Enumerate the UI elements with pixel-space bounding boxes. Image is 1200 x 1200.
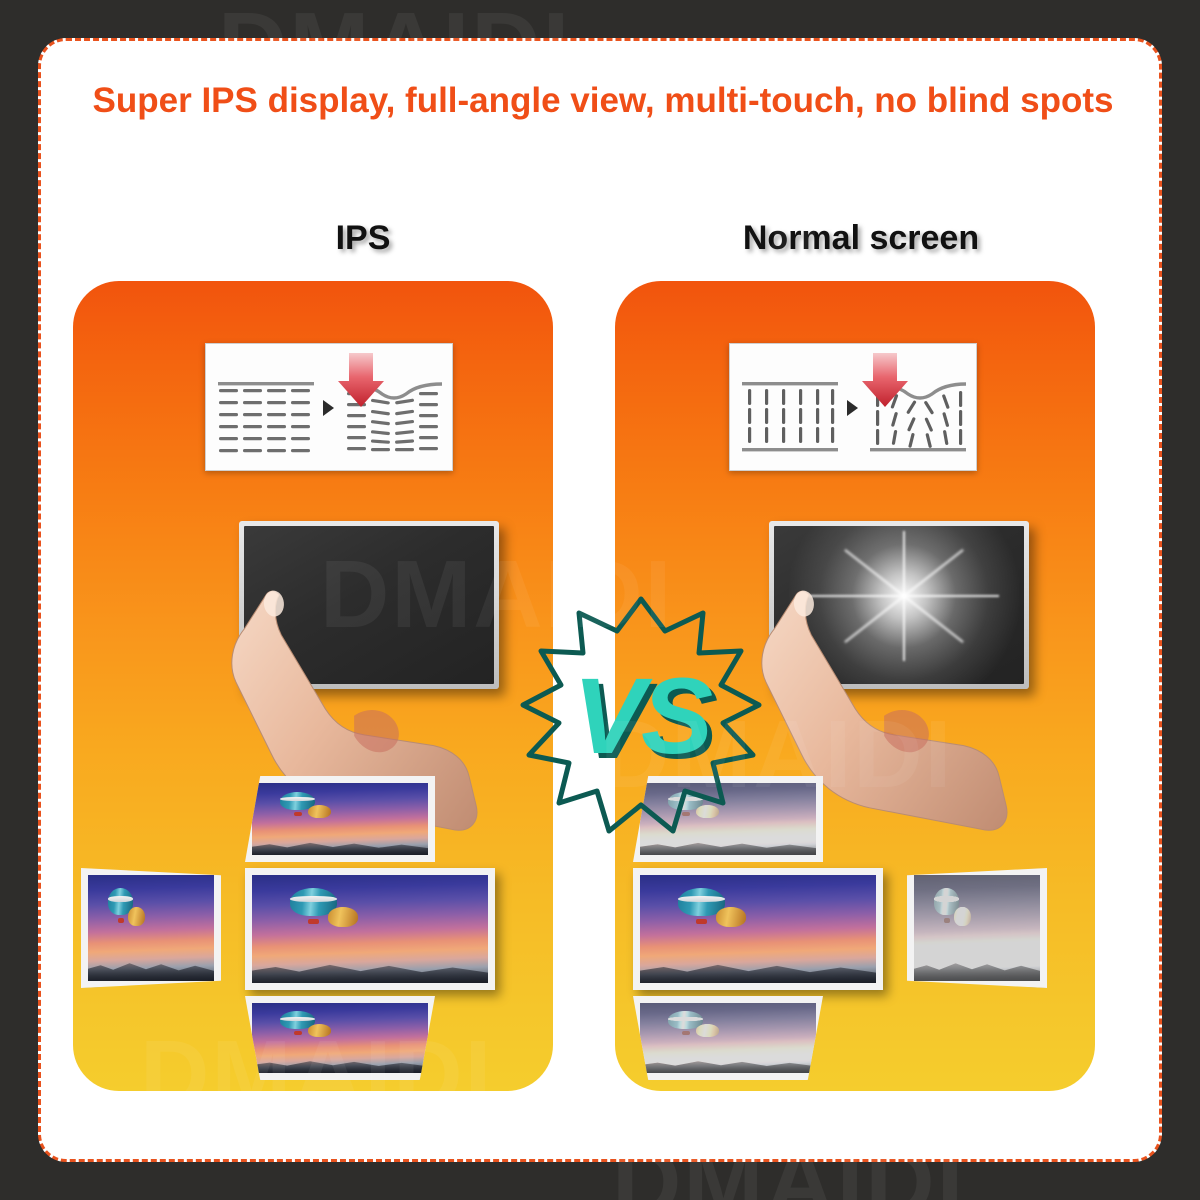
crystal-state-before-normal xyxy=(738,344,842,470)
view-bottom xyxy=(633,996,823,1080)
crystal-diagram-ips xyxy=(205,343,453,471)
comparison-panel-ips xyxy=(73,281,553,1091)
crystal-diagram-normal xyxy=(729,343,977,471)
view-bottom xyxy=(245,996,435,1080)
panel-caption-normal-screen: Normal screen xyxy=(681,219,1041,258)
view-top xyxy=(245,776,435,862)
vs-label: VS xyxy=(515,589,767,841)
view-left xyxy=(81,868,221,988)
view-center xyxy=(245,868,495,990)
crystal-state-before-ips xyxy=(214,344,318,470)
pressure-arrow-icon xyxy=(333,349,389,413)
crystal-lines-flat-icon xyxy=(214,344,318,472)
vs-badge: VS xyxy=(515,589,767,841)
view-center xyxy=(633,868,883,990)
page-title: Super IPS display, full-angle view, mult… xyxy=(71,79,1135,124)
pressure-arrow-icon xyxy=(857,349,913,413)
view-right xyxy=(907,868,1047,988)
panel-caption-ips: IPS xyxy=(243,219,483,258)
product-info-card: Super IPS display, full-angle view, mult… xyxy=(38,38,1162,1162)
crystal-lines-vertical-icon xyxy=(738,344,842,472)
viewing-angle-cluster-ips xyxy=(73,776,553,1076)
